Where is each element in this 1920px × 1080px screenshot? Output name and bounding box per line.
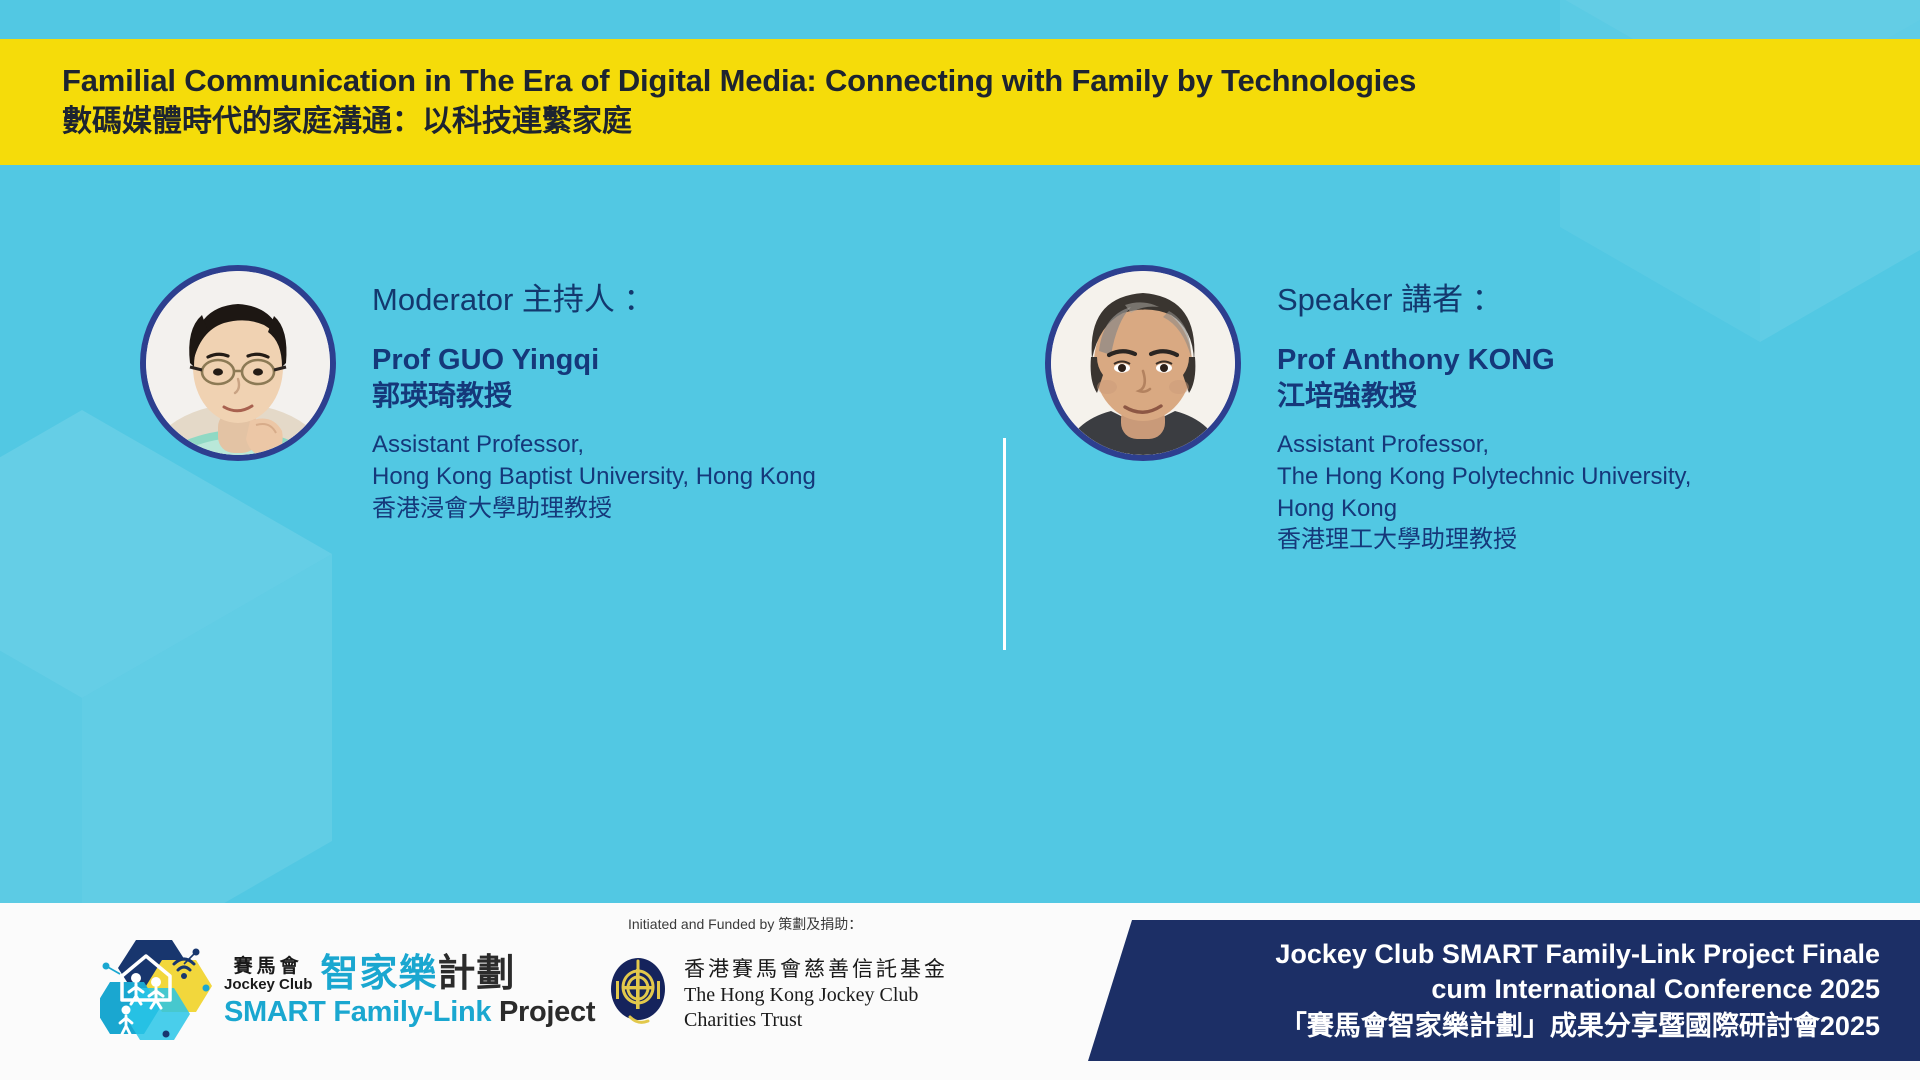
speaker-portrait xyxy=(1051,271,1235,455)
smart-logo-jockey-club-english: Jockey Club xyxy=(224,977,312,994)
hkjc-logo-wordmark: 香港賽馬會慈善信託基金 The Hong Kong Jockey Club Ch… xyxy=(684,956,948,1032)
speaker-affiliation-line: The Hong Kong Polytechnic University, xyxy=(1277,461,1691,493)
smart-logo-english-dark: Project xyxy=(499,996,595,1028)
moderator-card: Moderator 主持人 ： Prof GUO Yingqi 郭瑛琦教授 As… xyxy=(140,265,816,524)
speaker-affiliation-line: Assistant Professor, xyxy=(1277,429,1691,461)
speaker-info: Speaker 講者 ： Prof Anthony KONG 江培強教授 Ass… xyxy=(1277,265,1691,556)
smart-logo-chinese-blue: 智家樂 xyxy=(320,953,437,995)
conference-title-line2: cum International Conference 2025 xyxy=(1431,972,1880,1007)
moderator-affiliation-line: Hong Kong Baptist University, Hong Kong xyxy=(372,461,816,493)
smart-logo-wordmark: 賽馬會 Jockey Club 智家樂計劃 SMART Family-Link … xyxy=(224,955,595,1029)
session-title-chinese: 數碼媒體時代的家庭溝通：以科技連繫家庭 xyxy=(62,102,1920,141)
speaker-affiliation: Assistant Professor, The Hong Kong Polyt… xyxy=(1277,429,1691,556)
session-title-english: Familial Communication in The Era of Dig… xyxy=(62,63,1920,99)
conference-title-line3: 「賽馬會智家樂計劃」成果分享暨國際研討會2025 xyxy=(1280,1009,1880,1044)
moderator-info: Moderator 主持人 ： Prof GUO Yingqi 郭瑛琦教授 As… xyxy=(372,265,816,524)
slide-root: Familial Communication in The Era of Dig… xyxy=(0,0,1920,1080)
moderator-affiliation: Assistant Professor, Hong Kong Baptist U… xyxy=(372,429,816,524)
conference-title-banner: Jockey Club SMART Family-Link Project Fi… xyxy=(1078,920,1920,1061)
footer-bar: Initiated and Funded by 策劃及捐助： xyxy=(0,903,1920,1080)
funded-by-label: Initiated and Funded by 策劃及捐助： xyxy=(628,914,862,934)
conference-title-line1: Jockey Club SMART Family-Link Project Fi… xyxy=(1275,937,1880,972)
smart-logo-chinese-dark: 計劃 xyxy=(437,953,515,995)
moderator-affiliation-line: 香港浸會大學助理教授 xyxy=(372,493,816,525)
moderator-portrait xyxy=(146,271,330,455)
moderator-name-english: Prof GUO Yingqi xyxy=(372,342,816,378)
smart-logo-english-blue: SMART Family-Link xyxy=(224,996,491,1028)
smart-family-link-mark-icon xyxy=(100,938,212,1047)
hkjc-charities-trust-logo: 香港賽馬會慈善信託基金 The Hong Kong Jockey Club Ch… xyxy=(608,955,948,1034)
speaker-affiliation-line: Hong Kong xyxy=(1277,493,1691,525)
hkjc-emblem-icon xyxy=(608,955,668,1034)
speaker-role-label: Speaker 講者 ： xyxy=(1277,281,1691,318)
title-band: Familial Communication in The Era of Dig… xyxy=(0,39,1920,165)
moderator-name-chinese: 郭瑛琦教授 xyxy=(372,378,816,413)
speakers-section: Moderator 主持人 ： Prof GUO Yingqi 郭瑛琦教授 As… xyxy=(0,165,1920,903)
speaker-avatar xyxy=(1045,265,1241,461)
moderator-role-label: Moderator 主持人 ： xyxy=(372,281,816,318)
smart-logo-jockey-club-chinese: 賽馬會 xyxy=(234,957,303,977)
speaker-name-chinese: 江培強教授 xyxy=(1277,378,1691,413)
moderator-avatar xyxy=(140,265,336,461)
hkjc-name-english-line1: The Hong Kong Jockey Club xyxy=(684,983,948,1008)
hkjc-name-english-line2: Charities Trust xyxy=(684,1008,948,1033)
smart-family-link-logo: 賽馬會 Jockey Club 智家樂計劃 SMART Family-Link … xyxy=(100,938,595,1047)
speaker-affiliation-line: 香港理工大學助理教授 xyxy=(1277,524,1691,556)
speaker-name-english: Prof Anthony KONG xyxy=(1277,342,1691,378)
vertical-divider xyxy=(1003,438,1006,650)
hkjc-name-chinese: 香港賽馬會慈善信託基金 xyxy=(684,956,948,982)
moderator-affiliation-line: Assistant Professor, xyxy=(372,429,816,461)
speaker-card: Speaker 講者 ： Prof Anthony KONG 江培強教授 Ass… xyxy=(1045,265,1691,556)
